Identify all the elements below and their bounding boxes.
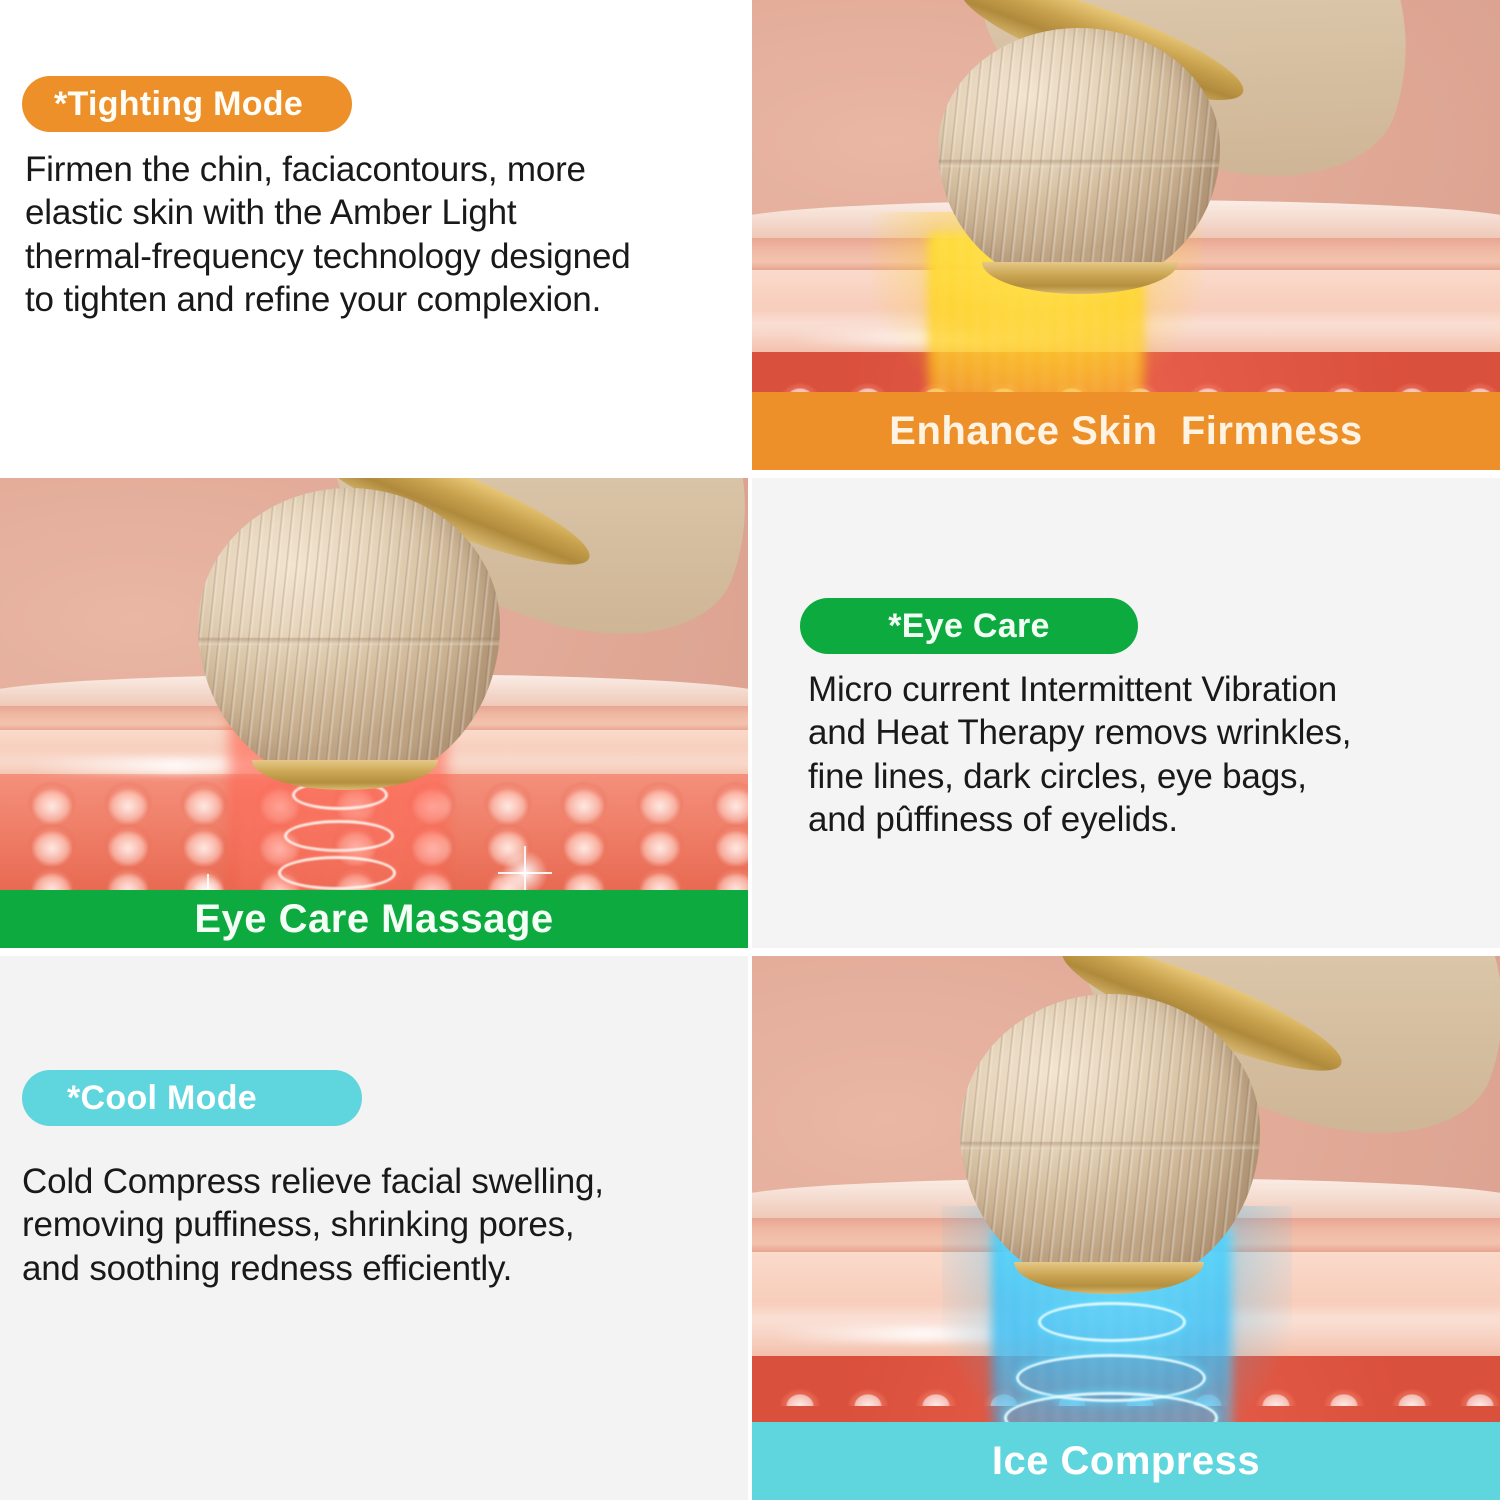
badge-cool-mode: *Cool Mode bbox=[22, 1070, 362, 1126]
photo-ice-compress: Ice Compress bbox=[752, 956, 1500, 1500]
pulse-ring bbox=[1038, 1302, 1186, 1342]
caption-eye-care-massage: Eye Care Massage bbox=[0, 890, 748, 948]
pulse-ring bbox=[284, 820, 394, 852]
pulse-ring bbox=[278, 856, 396, 890]
device-ridges bbox=[198, 488, 500, 786]
device-seam bbox=[198, 638, 500, 645]
caption-ice-compress: Ice Compress bbox=[752, 1422, 1500, 1500]
photo-enhance-skin-firmness: Enhance Skin Firmness bbox=[752, 0, 1500, 470]
photo-scene bbox=[0, 478, 748, 948]
photo-eye-care-massage: Eye Care Massage bbox=[0, 478, 748, 948]
description-eye-care: Micro current Intermittent Vibration and… bbox=[808, 668, 1468, 842]
description-tighting-mode: Firmen the chin, faciacontours, more ela… bbox=[25, 148, 725, 322]
description-cool-mode: Cold Compress relieve facial swelling, r… bbox=[22, 1160, 722, 1290]
caption-enhance-skin-firmness: Enhance Skin Firmness bbox=[752, 392, 1500, 470]
device-ball-head bbox=[198, 488, 500, 786]
device-ball-head bbox=[960, 994, 1260, 1290]
device-seam bbox=[938, 160, 1220, 167]
badge-eye-care: *Eye Care bbox=[800, 598, 1138, 654]
device-seam bbox=[960, 1142, 1260, 1149]
panel-tighting-mode: *Tighting Mode Firmen the chin, faciacon… bbox=[0, 0, 748, 470]
device-ridges bbox=[938, 28, 1220, 288]
infographic-grid: *Tighting Mode Firmen the chin, faciacon… bbox=[0, 0, 1500, 1500]
device-ball-head bbox=[938, 28, 1220, 288]
photo-scene bbox=[752, 956, 1500, 1500]
badge-tighting-mode: *Tighting Mode bbox=[22, 76, 352, 132]
